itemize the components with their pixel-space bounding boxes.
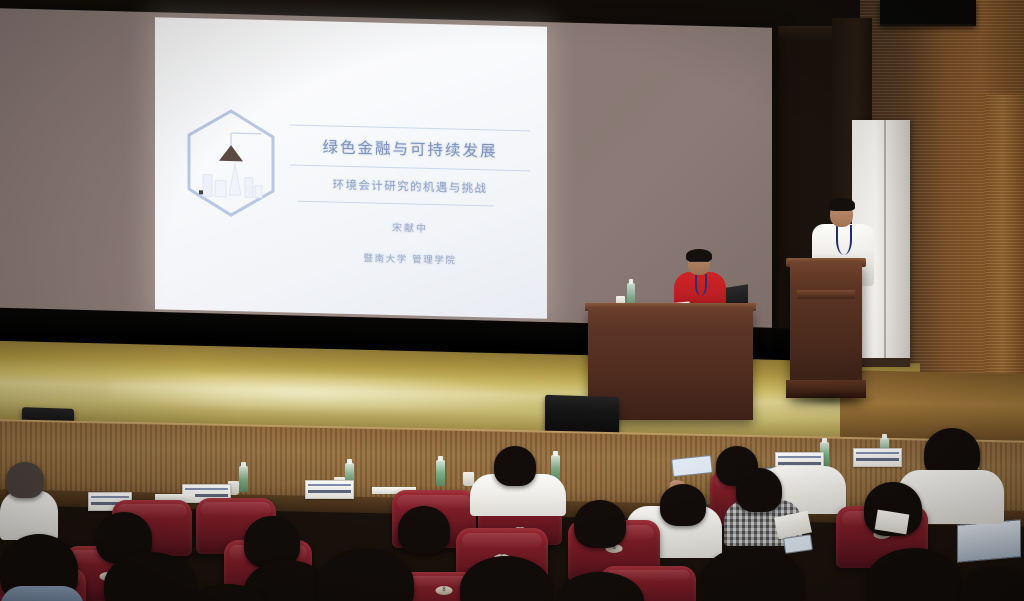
podium-trim — [797, 290, 855, 299]
hexagon-lamp-skyline-logo — [183, 106, 279, 220]
audience-head — [574, 500, 626, 548]
conference-hall-screenshot: 绿色金融与可持续发展 环境会计研究的机遇与挑战 宋献中 暨南大学 管理学院 — [0, 0, 1024, 601]
slide-main-title: 绿色金融与可持续发展 — [290, 130, 530, 167]
placard-upper-text-line — [185, 488, 228, 490]
ceiling-mounted-display — [880, 0, 976, 26]
slide-rule-bottom — [298, 201, 494, 207]
podium-floor-shadow — [782, 392, 878, 406]
audience-head-foreground — [960, 566, 1024, 601]
door-seam — [884, 120, 886, 365]
audience-head — [736, 468, 782, 512]
placard-upper-text-line — [778, 456, 821, 458]
placard-upper-text-line — [91, 496, 129, 498]
audience-head — [398, 506, 450, 554]
name-placard — [853, 448, 902, 467]
placard-name-text-line — [308, 490, 351, 493]
slide-presenter-name: 宋献中 — [290, 217, 530, 238]
placard-name-text-line — [778, 462, 821, 465]
moderator-lanyard — [695, 274, 707, 296]
name-placard — [305, 480, 354, 499]
placard-upper-text-line — [856, 452, 899, 454]
audience-head — [660, 484, 706, 526]
desk-water-bottle — [436, 460, 445, 486]
seat-number: 8 — [436, 586, 453, 595]
slide-title-block: 绿色金融与可持续发展 环境会计研究的机遇与挑战 — [290, 121, 530, 212]
placard-name-text-line — [856, 458, 899, 461]
presentation-slide: 绿色金融与可持续发展 环境会计研究的机遇与挑战 宋献中 暨南大学 管理学院 — [155, 17, 547, 319]
speaker-hair — [828, 198, 855, 211]
slide-subtitle: 环境会计研究的机遇与挑战 — [290, 170, 530, 203]
stage-monitor-speaker-right — [545, 395, 619, 436]
desk-water-bottle — [239, 466, 248, 492]
audience-head — [6, 462, 44, 498]
projected-slide-area: 绿色金融与可持续发展 环境会计研究的机遇与挑战 宋献中 暨南大学 管理学院 — [155, 17, 547, 319]
audience-head — [494, 446, 536, 486]
audience-laptop[interactable] — [957, 519, 1021, 563]
right-wood-wall-panel — [985, 95, 1024, 395]
speaker-lanyard — [836, 225, 852, 255]
podium — [790, 262, 862, 398]
audience-shoulders-foreground — [0, 586, 84, 601]
slide-presenter-affiliation: 暨南大学 管理学院 — [290, 249, 530, 269]
placard-upper-text-line — [308, 484, 351, 486]
audience-head-foreground — [318, 548, 414, 601]
smartphone[interactable] — [783, 534, 813, 554]
moderator-glasses-icon — [689, 261, 709, 266]
